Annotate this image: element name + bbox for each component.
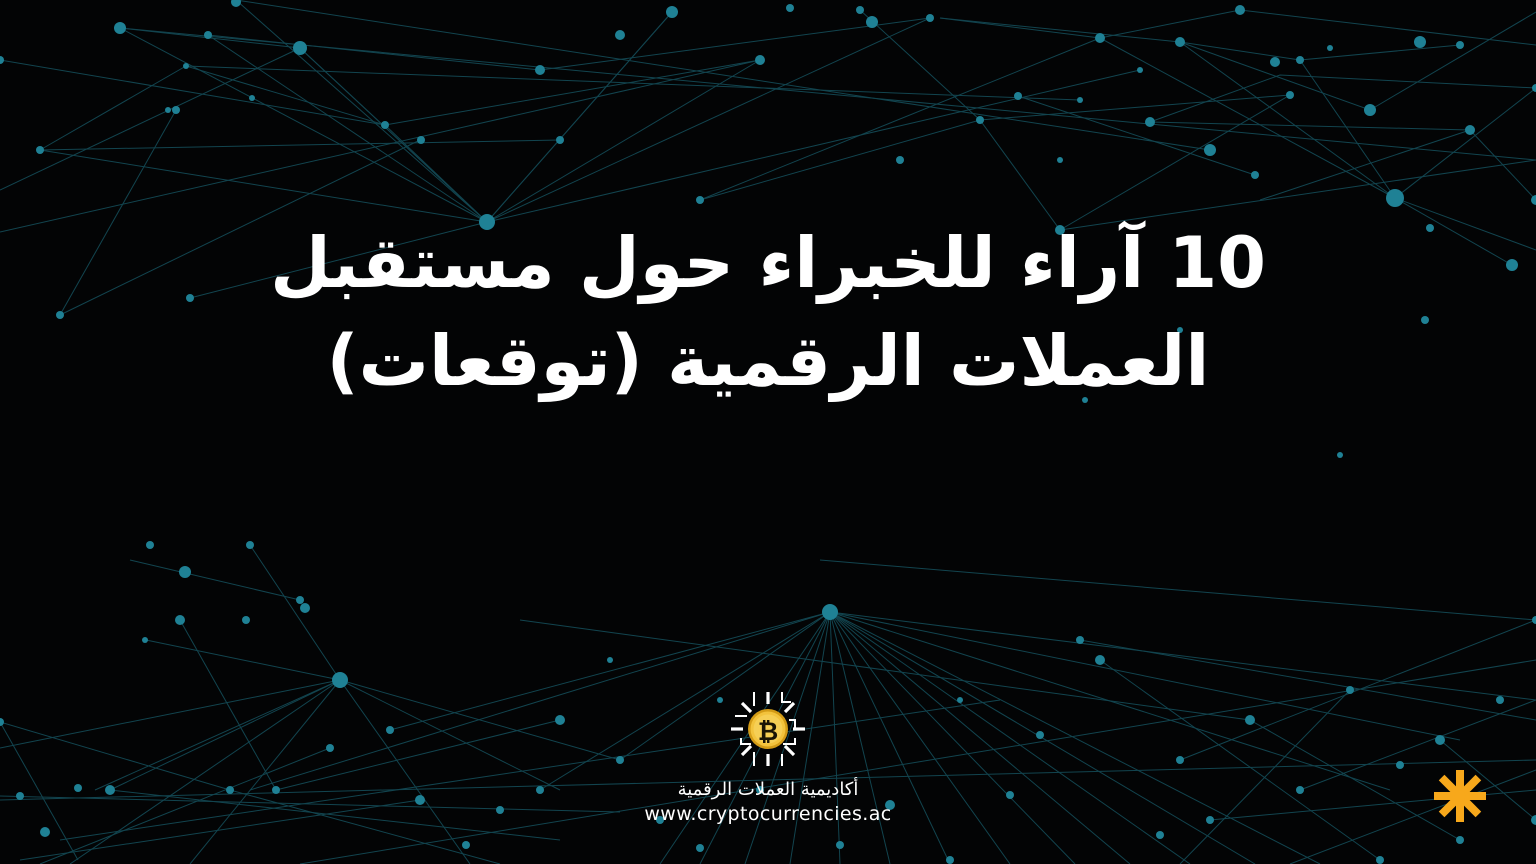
page-title: 10 آراء للخبراء حول مستقبل العملات الرقم… [0,214,1536,410]
academy-website: www.cryptocurrencies.ac [588,802,948,827]
title-line-2: العملات الرقمية (توقعات) [0,312,1536,410]
brand-logo-lockup: ₿ أكاديمية العملات الرقمية www.cryptocur… [588,686,948,827]
academy-name: أكاديمية العملات الرقمية [588,778,948,802]
title-card-canvas: 10 آراء للخبراء حول مستقبل العملات الرقم… [0,0,1536,864]
corner-asterisk-badge [1428,764,1492,828]
bitcoin-network-logo-icon: ₿ [725,686,811,772]
title-line-1: 10 آراء للخبراء حول مستقبل [0,214,1536,312]
asterisk-star-icon [1428,764,1492,828]
bitcoin-symbol: ₿ [758,717,778,746]
